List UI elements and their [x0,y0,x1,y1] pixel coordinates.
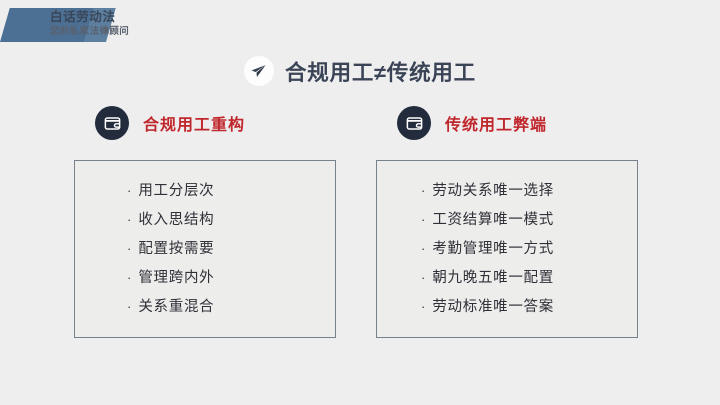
brand-subtitle: 您的私家法律顾问 [50,25,290,39]
column-heading-traditional: 传统用工弊端 [445,111,547,135]
paper-plane-icon [244,56,274,86]
slide-title-row: 合规用工≠传统用工 [0,54,720,88]
bullet-icon: · [421,211,425,229]
bullet-icon: · [127,298,131,316]
list-item: · 劳动关系唯一选择 [421,182,637,200]
list-item-label: 用工分层次 [138,182,214,200]
list-item-label: 劳动标准唯一答案 [432,298,554,316]
list-item: · 劳动标准唯一答案 [421,298,637,316]
bullet-icon: · [421,269,425,287]
page-title: 合规用工≠传统用工 [285,56,476,87]
panel-compliant: · 用工分层次 · 收入思结构 · 配置按需要 · 管理跨内外 · 关系重混合 [74,160,336,338]
slide-canvas: 白话劳动法 您的私家法律顾问 合规用工≠传统用工 合规用工重构 [0,0,720,405]
bullet-icon: · [421,240,425,258]
column-traditional: 传统用工弊端 · 劳动关系唯一选择 · 工资结算唯一模式 · 考勤管理唯一方式 … [376,103,638,338]
list-item: · 管理跨内外 [127,269,335,287]
column-header-traditional: 传统用工弊端 [376,103,638,143]
list-item-label: 收入思结构 [138,211,214,229]
list-item: · 关系重混合 [127,298,335,316]
list-item-label: 工资结算唯一模式 [432,211,554,229]
list-item: · 考勤管理唯一方式 [421,240,637,258]
bullet-icon: · [127,240,131,258]
list-item: · 用工分层次 [127,182,335,200]
list-item-label: 考勤管理唯一方式 [432,240,554,258]
column-header-compliant: 合规用工重构 [74,103,336,143]
list-item: · 工资结算唯一模式 [421,211,637,229]
list-item-label: 劳动关系唯一选择 [432,182,554,200]
panel-traditional: · 劳动关系唯一选择 · 工资结算唯一模式 · 考勤管理唯一方式 · 朝九晚五唯… [376,160,638,338]
wallet-card-icon [95,106,129,140]
list-item: · 收入思结构 [127,211,335,229]
bullet-icon: · [421,182,425,200]
list-item-label: 朝九晚五唯一配置 [432,269,554,287]
column-compliant: 合规用工重构 · 用工分层次 · 收入思结构 · 配置按需要 · 管理跨内外 ·… [74,103,336,338]
brand-text-block: 白话劳动法 您的私家法律顾问 [50,9,290,39]
list-item: · 朝九晚五唯一配置 [421,269,637,287]
list-item-label: 关系重混合 [138,298,214,316]
wallet-card-icon [397,106,431,140]
list-item-label: 管理跨内外 [138,269,214,287]
brand-header: 白话劳动法 您的私家法律顾问 [0,8,300,42]
bullet-icon: · [127,269,131,287]
bullet-icon: · [421,298,425,316]
bullet-icon: · [127,182,131,200]
brand-title: 白话劳动法 [50,9,290,25]
bullet-icon: · [127,211,131,229]
list-item-label: 配置按需要 [138,240,214,258]
column-heading-compliant: 合规用工重构 [143,111,245,135]
list-item: · 配置按需要 [127,240,335,258]
